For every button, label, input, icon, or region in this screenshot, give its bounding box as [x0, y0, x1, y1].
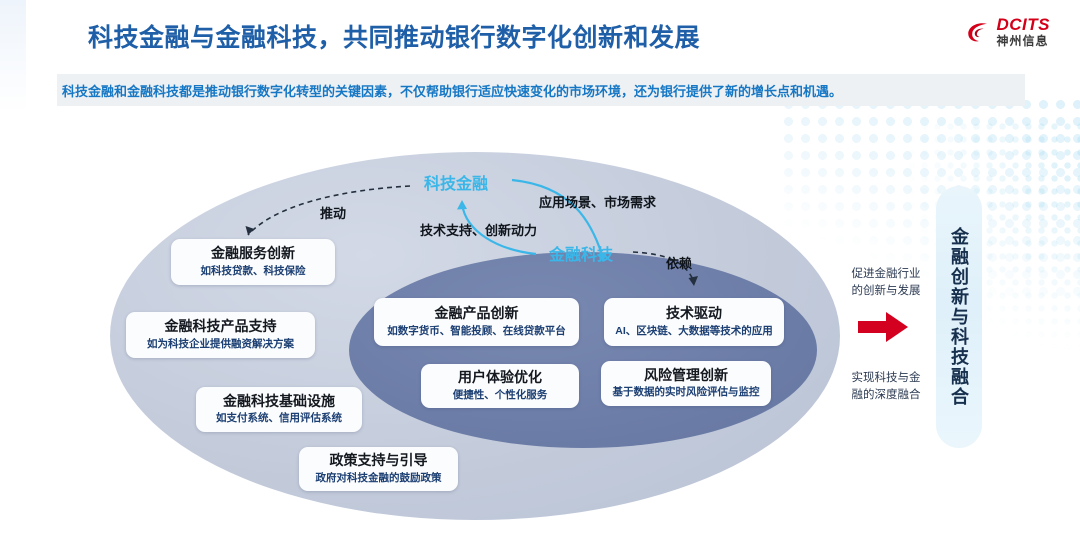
card-title: 金融服务创新: [211, 245, 295, 263]
card-title: 金融科技基础设施: [223, 393, 335, 411]
slide-canvas: 科技金融与金融科技，共同推动银行数字化创新和发展 DCITS 神州信息 科技金融…: [0, 0, 1080, 540]
logo-chinese-name: 神州信息: [997, 35, 1051, 47]
relation-label-depend: 依赖: [666, 253, 692, 272]
card-subtitle: 如支付系统、信用评估系统: [216, 412, 342, 426]
inner-ellipse-fintech-core: [349, 252, 817, 448]
relation-label-tech-support: 技术支持、创新动力: [420, 220, 537, 239]
card-title: 用户体验优化: [458, 369, 542, 387]
card-subtitle: 如科技贷款、科技保险: [201, 265, 306, 279]
side-note-promote-innovation: 促进金融行业 的创新与发展: [838, 266, 934, 299]
card-title: 政策支持与引导: [330, 452, 428, 470]
corner-gradient-decoration: [0, 0, 26, 112]
brand-logo: DCITS 神州信息: [965, 16, 1051, 47]
concept-label-jinrong-keji: 金融科技: [549, 241, 613, 265]
card-subtitle: 如为科技企业提供融资解决方案: [147, 338, 294, 352]
concept-label-keji-jinrong: 科技金融: [424, 170, 488, 194]
card-subtitle: 基于数据的实时风险评估与监控: [613, 386, 760, 400]
card-user-experience-optimization[interactable]: 用户体验优化 便捷性、个性化服务: [421, 364, 579, 408]
relation-label-application: 应用场景、市场需求: [539, 192, 656, 211]
card-fintech-product-support[interactable]: 金融科技产品支持 如为科技企业提供融资解决方案: [126, 312, 315, 358]
logo-wordmark: DCITS: [997, 16, 1051, 33]
card-title: 金融科技产品支持: [165, 318, 277, 336]
card-financial-product-innovation[interactable]: 金融产品创新 如数字货币、智能投顾、在线贷款平台: [374, 298, 579, 346]
card-title: 金融产品创新: [435, 305, 519, 323]
card-policy-support[interactable]: 政策支持与引导 政府对科技金融的鼓励政策: [299, 447, 458, 491]
dcits-swirl-icon: [965, 19, 991, 45]
card-risk-management-innovation[interactable]: 风险管理创新 基于数据的实时风险评估与监控: [601, 361, 771, 406]
card-subtitle: 政府对科技金融的鼓励政策: [316, 472, 442, 486]
card-title: 技术驱动: [666, 305, 722, 323]
relation-label-drive: 推动: [320, 203, 346, 222]
side-note-deep-integration: 实现科技与金 融的深度融合: [838, 370, 934, 403]
card-subtitle: 如数字货币、智能投顾、在线贷款平台: [387, 325, 566, 339]
card-subtitle: AI、区块链、大数据等技术的应用: [615, 325, 773, 339]
card-technology-driven[interactable]: 技术驱动 AI、区块链、大数据等技术的应用: [604, 298, 784, 346]
card-title: 风险管理创新: [644, 367, 728, 385]
card-fintech-infrastructure[interactable]: 金融科技基础设施 如支付系统、信用评估系统: [196, 387, 362, 432]
subtitle-text: 科技金融和金融科技都是推动银行数字化转型的关键因素，不仅帮助银行适应快速变化的市…: [57, 81, 842, 100]
page-title: 科技金融与金融科技，共同推动银行数字化创新和发展: [88, 18, 700, 54]
background-dot-pattern-secondary: [905, 120, 1080, 350]
subtitle-band: 科技金融和金融科技都是推动银行数字化转型的关键因素，不仅帮助银行适应快速变化的市…: [57, 74, 1025, 106]
vertical-label-integration: 金融创新与科技融合: [936, 186, 982, 448]
card-subtitle: 便捷性、个性化服务: [453, 389, 548, 403]
red-right-arrow-icon: [856, 310, 910, 344]
card-financial-service-innovation[interactable]: 金融服务创新 如科技贷款、科技保险: [171, 239, 335, 285]
